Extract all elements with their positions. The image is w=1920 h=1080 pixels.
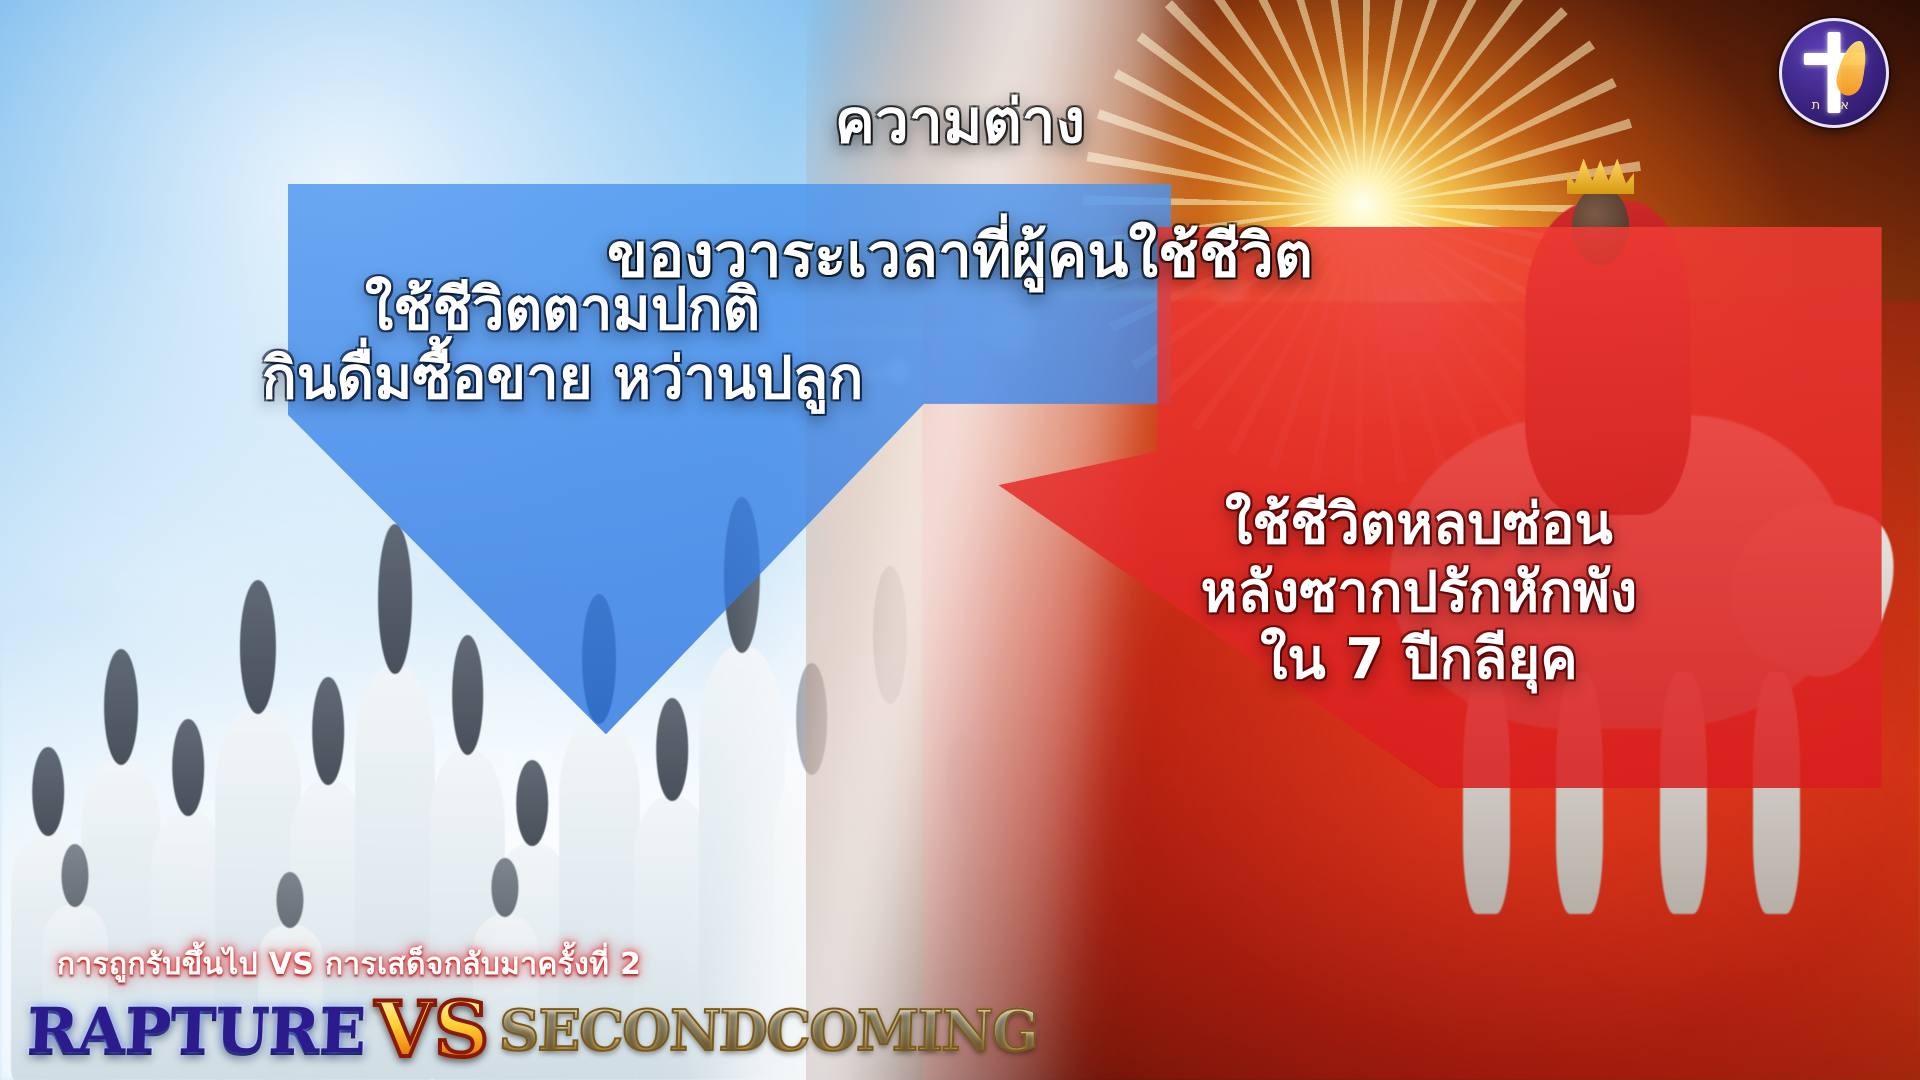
left-panel-line-1: ใช้ชีวิตตามปกติ (63, 275, 1061, 343)
right-panel-line-2: หลังซากปรักหักพัง (968, 559, 1870, 626)
brand-secondcoming-word: SECONDCOMING (498, 998, 1039, 1064)
left-panel-line-2: กินดื่มซื้อขาย หว่านปลูก (63, 344, 1061, 412)
cross-flame-emblem-icon: א ת (1779, 18, 1889, 128)
footer-brand: การถูกรับขึ้นไป VS การเสด็จกลับมาครั้งที… (27, 941, 949, 1067)
left-panel-text: ใช้ชีวิตตามปกติ กินดื่มซื้อขาย หว่านปลูก (63, 275, 1061, 412)
headline-line-1: ความต่าง (346, 89, 1575, 156)
right-panel-text: ใช้ชีวิตหลบซ่อน หลังซากปรักหักพัง ใน 7 ป… (968, 491, 1870, 693)
brand-lockup: RAPTURE VS SECONDCOMING (27, 994, 949, 1067)
right-panel-line-1: ใช้ชีวิตหลบซ่อน (968, 491, 1870, 558)
poster-canvas: ความต่าง ของวาระเวลาที่ผู้คนใช้ชีวิต ใช้… (0, 0, 1920, 1080)
right-panel-line-3: ใน 7 ปีกลียุค (968, 626, 1870, 693)
footer-subtitle: การถูกรับขึ้นไป VS การเสด็จกลับมาครั้งที… (27, 941, 949, 988)
brand-rapture-word: RAPTURE (26, 994, 367, 1067)
logo-hebrew-marks: א ת (1782, 98, 1886, 113)
brand-vs-badge: VS (371, 996, 493, 1064)
